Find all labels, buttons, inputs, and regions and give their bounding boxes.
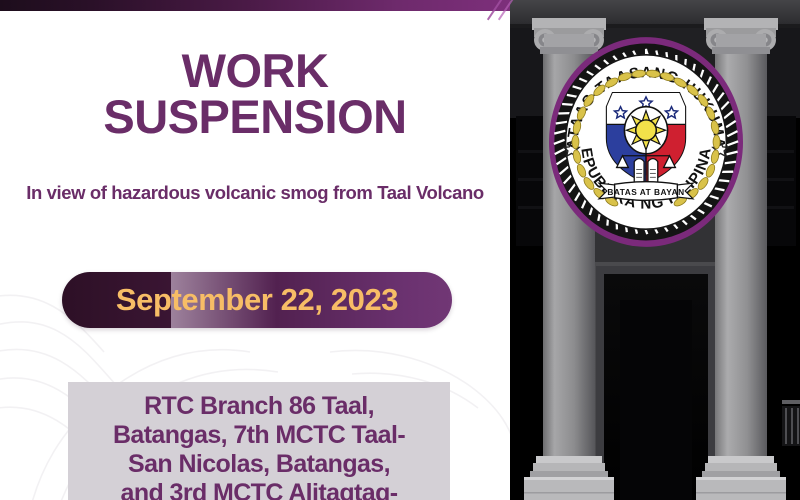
content-panel: WORK SUSPENSION In view of hazardous vol… bbox=[0, 0, 510, 500]
headline-line-1: WORK bbox=[182, 44, 329, 97]
column-base-left bbox=[524, 456, 614, 500]
column-base-right bbox=[696, 456, 786, 500]
subtitle: In view of hazardous volcanic smog from … bbox=[0, 182, 510, 205]
top-accent-bar bbox=[0, 0, 510, 11]
headline-line-2: SUSPENSION bbox=[0, 94, 510, 140]
work-suspension-poster: WORK SUSPENSION In view of hazardous vol… bbox=[0, 0, 800, 500]
seal-illustration: KATAAS-TAASANG HUKUMAN REPUBLIKA NG PILI… bbox=[548, 36, 744, 248]
affected-courts-line-4: and 3rd MCTC Alitagtag- bbox=[68, 479, 450, 500]
affected-courts-line-3: San Nicolas, Batangas, bbox=[68, 450, 450, 479]
supreme-court-seal: KATAAS-TAASANG HUKUMAN REPUBLIKA NG PILI… bbox=[548, 36, 744, 248]
page-title: WORK SUSPENSION bbox=[0, 48, 510, 140]
date-badge: September 22, 2023 bbox=[62, 272, 452, 328]
affected-courts-text: RTC Branch 86 Taal, Batangas, 7th MCTC T… bbox=[68, 392, 450, 500]
seal-motto-scroll: BATAS AT BAYAN bbox=[599, 182, 693, 201]
date-badge-label: September 22, 2023 bbox=[116, 282, 398, 318]
seal-motto-text: BATAS AT BAYAN bbox=[607, 187, 684, 197]
affected-courts-line-1: RTC Branch 86 Taal, bbox=[68, 392, 450, 421]
affected-courts-line-2: Batangas, 7th MCTC Taal- bbox=[68, 421, 450, 450]
